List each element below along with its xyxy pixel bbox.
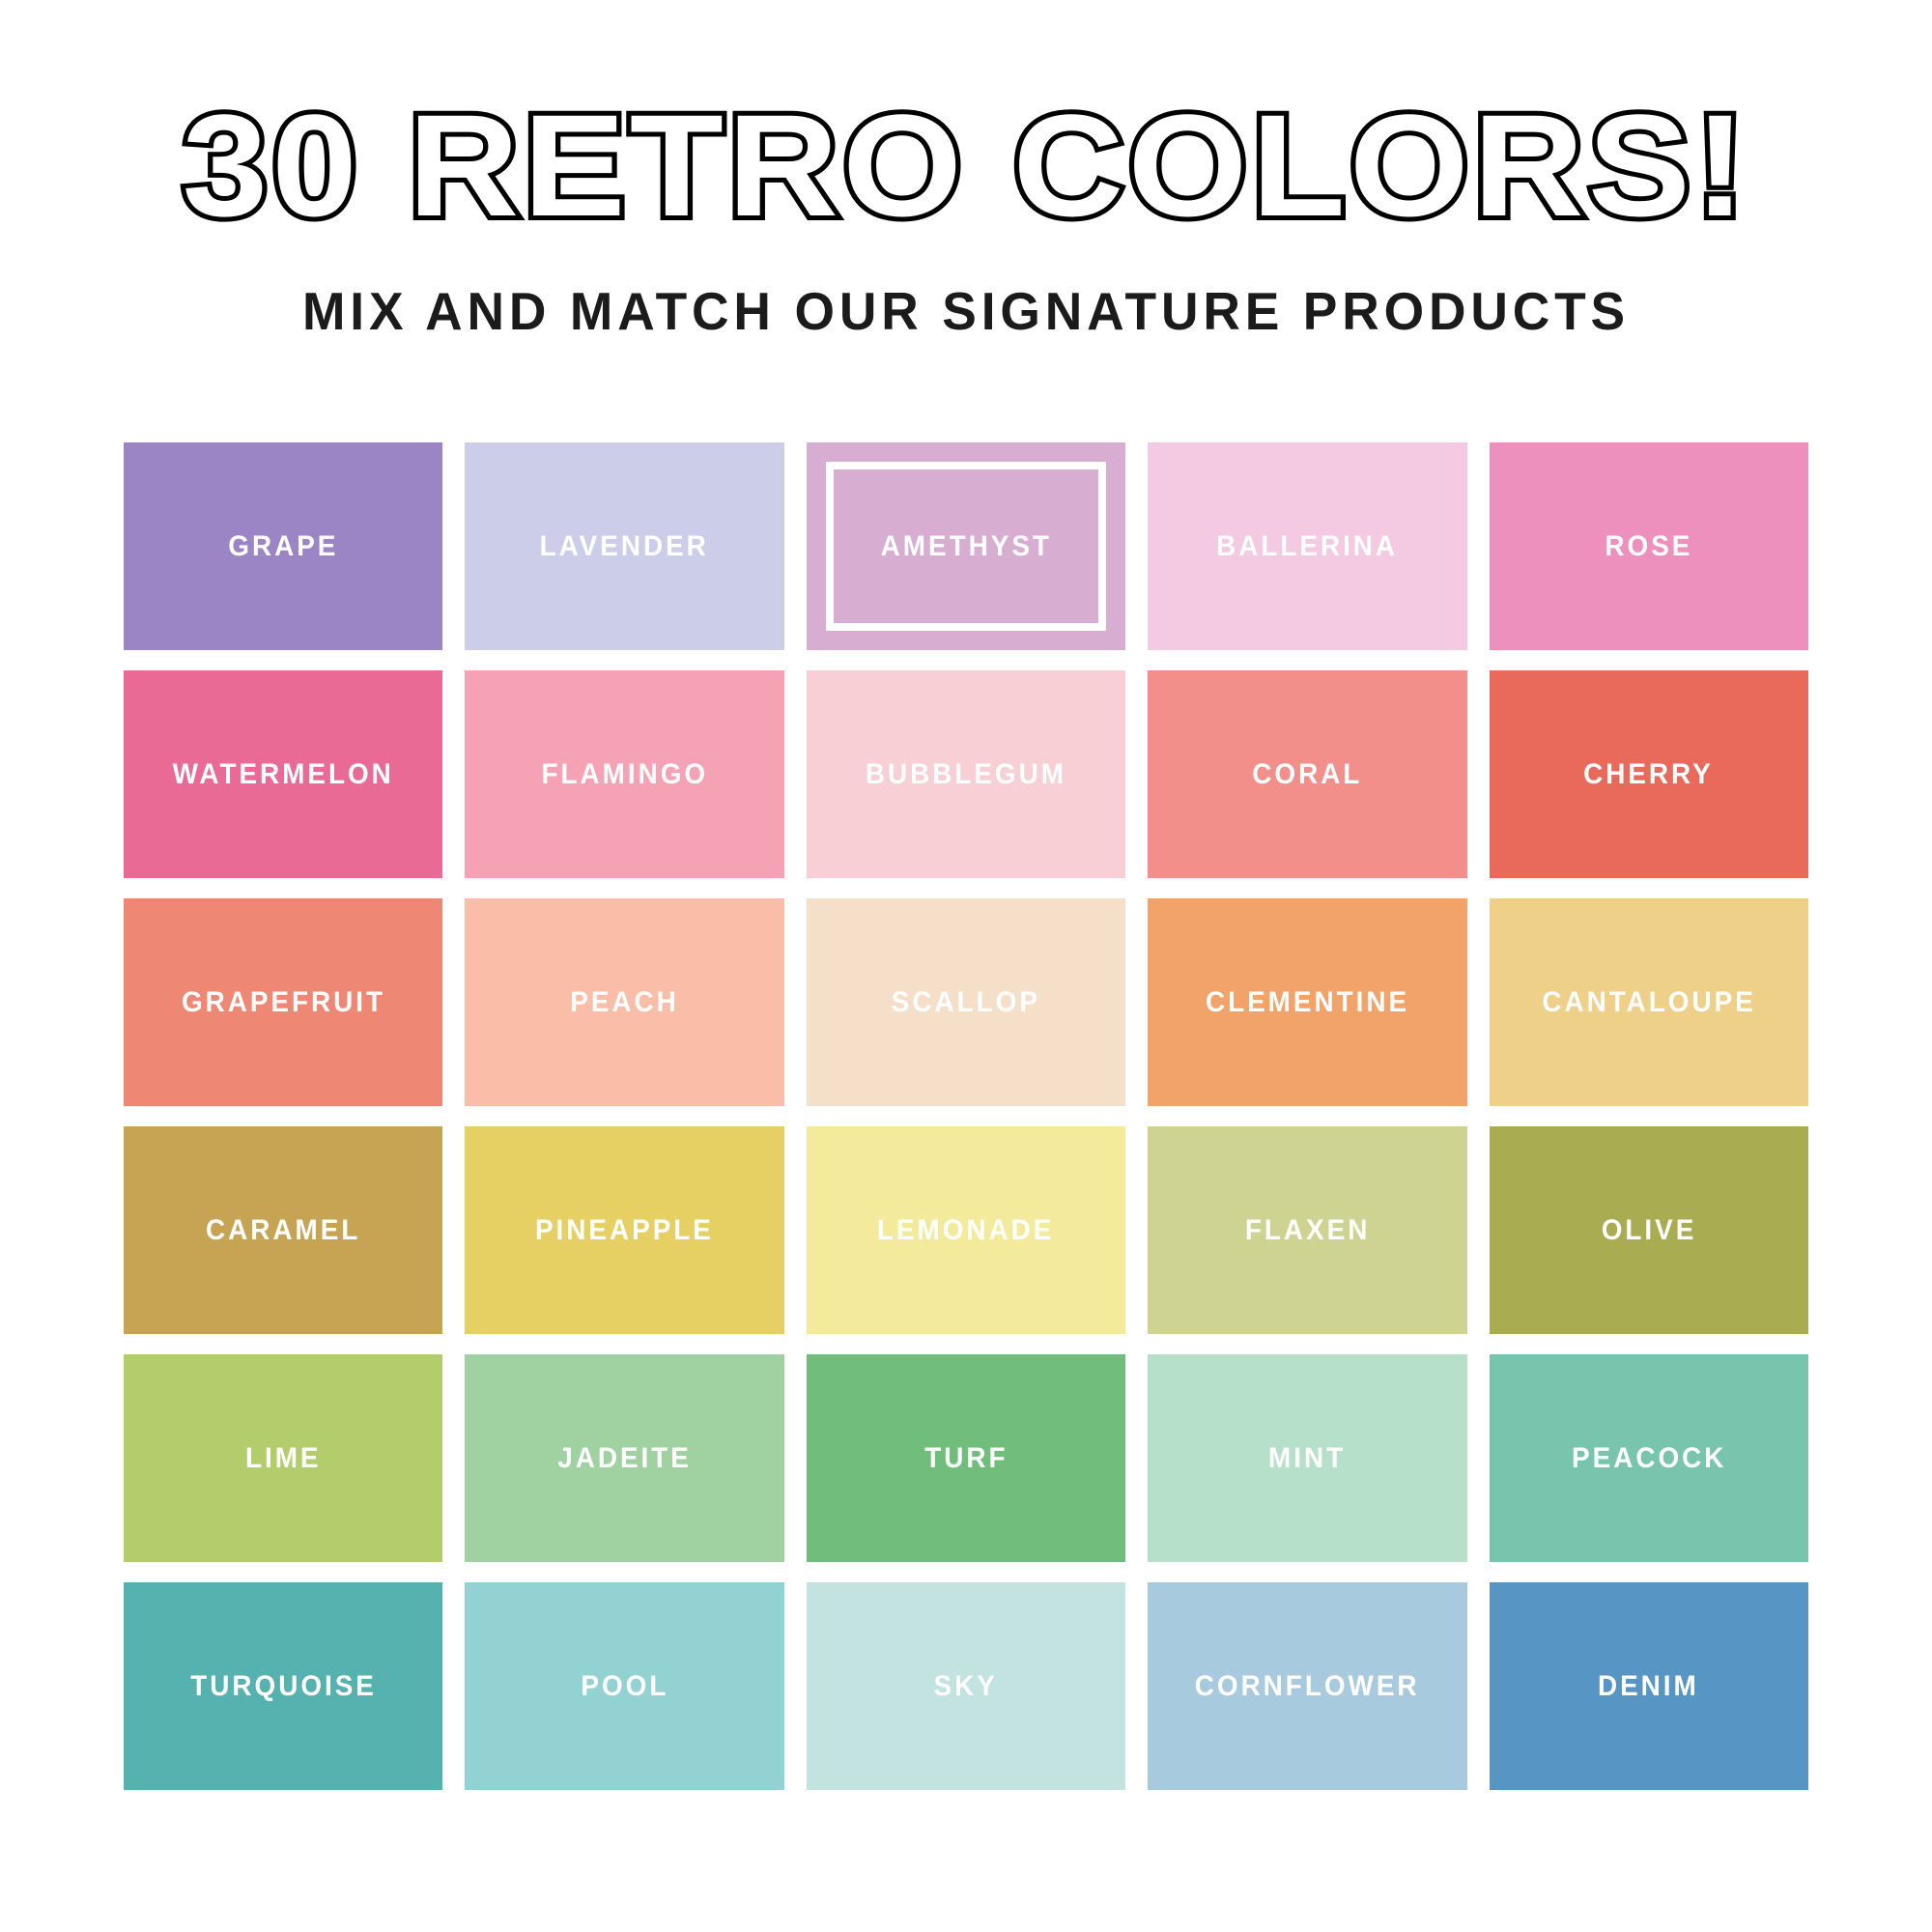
page-subtitle: MIX AND MATCH OUR SIGNATURE PRODUCTS (29, 280, 1903, 342)
swatch-label: FLAXEN (1245, 1216, 1370, 1245)
swatch-label: LIME (245, 1444, 322, 1473)
swatch-label: POOL (581, 1672, 668, 1701)
color-palette-page: 30 RETRO COLORS! MIX AND MATCH OUR SIGNA… (0, 0, 1932, 1932)
swatch-watermelon[interactable]: WATERMELON (124, 670, 442, 878)
swatch-grapefruit[interactable]: GRAPEFRUIT (124, 898, 442, 1106)
swatch-cherry[interactable]: CHERRY (1490, 670, 1808, 878)
swatch-label: JADEITE (557, 1444, 692, 1473)
swatch-label: DENIM (1598, 1672, 1699, 1701)
swatch-olive[interactable]: OLIVE (1490, 1126, 1808, 1334)
swatch-label: TURF (924, 1444, 1008, 1473)
swatch-lime[interactable]: LIME (124, 1354, 442, 1562)
page-title: 30 RETRO COLORS! (0, 93, 1932, 238)
swatch-label: GRAPEFRUIT (182, 988, 385, 1017)
swatch-label: BUBBLEGUM (866, 760, 1066, 789)
swatch-label: SKY (934, 1672, 998, 1701)
swatch-label: CLEMENTINE (1206, 988, 1409, 1017)
swatch-label: PEACH (570, 988, 679, 1017)
swatch-peacock[interactable]: PEACOCK (1490, 1354, 1808, 1562)
swatch-label: CORAL (1252, 760, 1362, 789)
swatch-label: BALLERINA (1216, 532, 1398, 561)
swatch-cornflower[interactable]: CORNFLOWER (1148, 1582, 1466, 1790)
swatch-flaxen[interactable]: FLAXEN (1148, 1126, 1466, 1334)
swatch-clementine[interactable]: CLEMENTINE (1148, 898, 1466, 1106)
swatch-turquoise[interactable]: TURQUOISE (124, 1582, 442, 1790)
swatch-label: FLAMINGO (541, 760, 708, 789)
swatch-grape[interactable]: GRAPE (124, 442, 442, 650)
swatch-label: OLIVE (1601, 1216, 1696, 1245)
swatch-rose[interactable]: ROSE (1490, 442, 1808, 650)
swatch-coral[interactable]: CORAL (1148, 670, 1466, 878)
swatch-lemonade[interactable]: LEMONADE (807, 1126, 1125, 1334)
swatch-label: PEACOCK (1572, 1444, 1726, 1473)
swatch-pool[interactable]: POOL (465, 1582, 783, 1790)
swatch-grid: GRAPELAVENDERAMETHYSTBALLERINAROSEWATERM… (124, 442, 1808, 1790)
swatch-lavender[interactable]: LAVENDER (465, 442, 783, 650)
swatch-label: GRAPE (228, 532, 338, 561)
swatch-label: LEMONADE (877, 1216, 1054, 1245)
swatch-flamingo[interactable]: FLAMINGO (465, 670, 783, 878)
page-header: 30 RETRO COLORS! MIX AND MATCH OUR SIGNA… (0, 0, 1932, 342)
swatch-label: PINEAPPLE (535, 1216, 714, 1245)
swatch-pineapple[interactable]: PINEAPPLE (465, 1126, 783, 1334)
swatch-cantaloupe[interactable]: CANTALOUPE (1490, 898, 1808, 1106)
swatch-label: TURQUOISE (190, 1672, 377, 1701)
swatch-amethyst[interactable]: AMETHYST (807, 442, 1125, 650)
swatch-jadeite[interactable]: JADEITE (465, 1354, 783, 1562)
swatch-label: SCALLOP (892, 988, 1040, 1017)
swatch-ballerina[interactable]: BALLERINA (1148, 442, 1466, 650)
swatch-label: CORNFLOWER (1195, 1672, 1420, 1701)
swatch-sky[interactable]: SKY (807, 1582, 1125, 1790)
swatch-scallop[interactable]: SCALLOP (807, 898, 1125, 1106)
swatch-label: CARAMEL (206, 1216, 360, 1245)
swatch-label: AMETHYST (880, 532, 1051, 561)
swatch-label: WATERMELON (173, 760, 394, 789)
swatch-mint[interactable]: MINT (1148, 1354, 1466, 1562)
swatch-label: MINT (1268, 1444, 1346, 1473)
swatch-denim[interactable]: DENIM (1490, 1582, 1808, 1790)
swatch-label: ROSE (1605, 532, 1692, 561)
swatch-bubblegum[interactable]: BUBBLEGUM (807, 670, 1125, 878)
swatch-label: LAVENDER (540, 532, 709, 561)
swatch-label: CANTALOUPE (1542, 988, 1755, 1017)
swatch-peach[interactable]: PEACH (465, 898, 783, 1106)
swatch-caramel[interactable]: CARAMEL (124, 1126, 442, 1334)
swatch-turf[interactable]: TURF (807, 1354, 1125, 1562)
swatch-label: CHERRY (1583, 760, 1714, 789)
